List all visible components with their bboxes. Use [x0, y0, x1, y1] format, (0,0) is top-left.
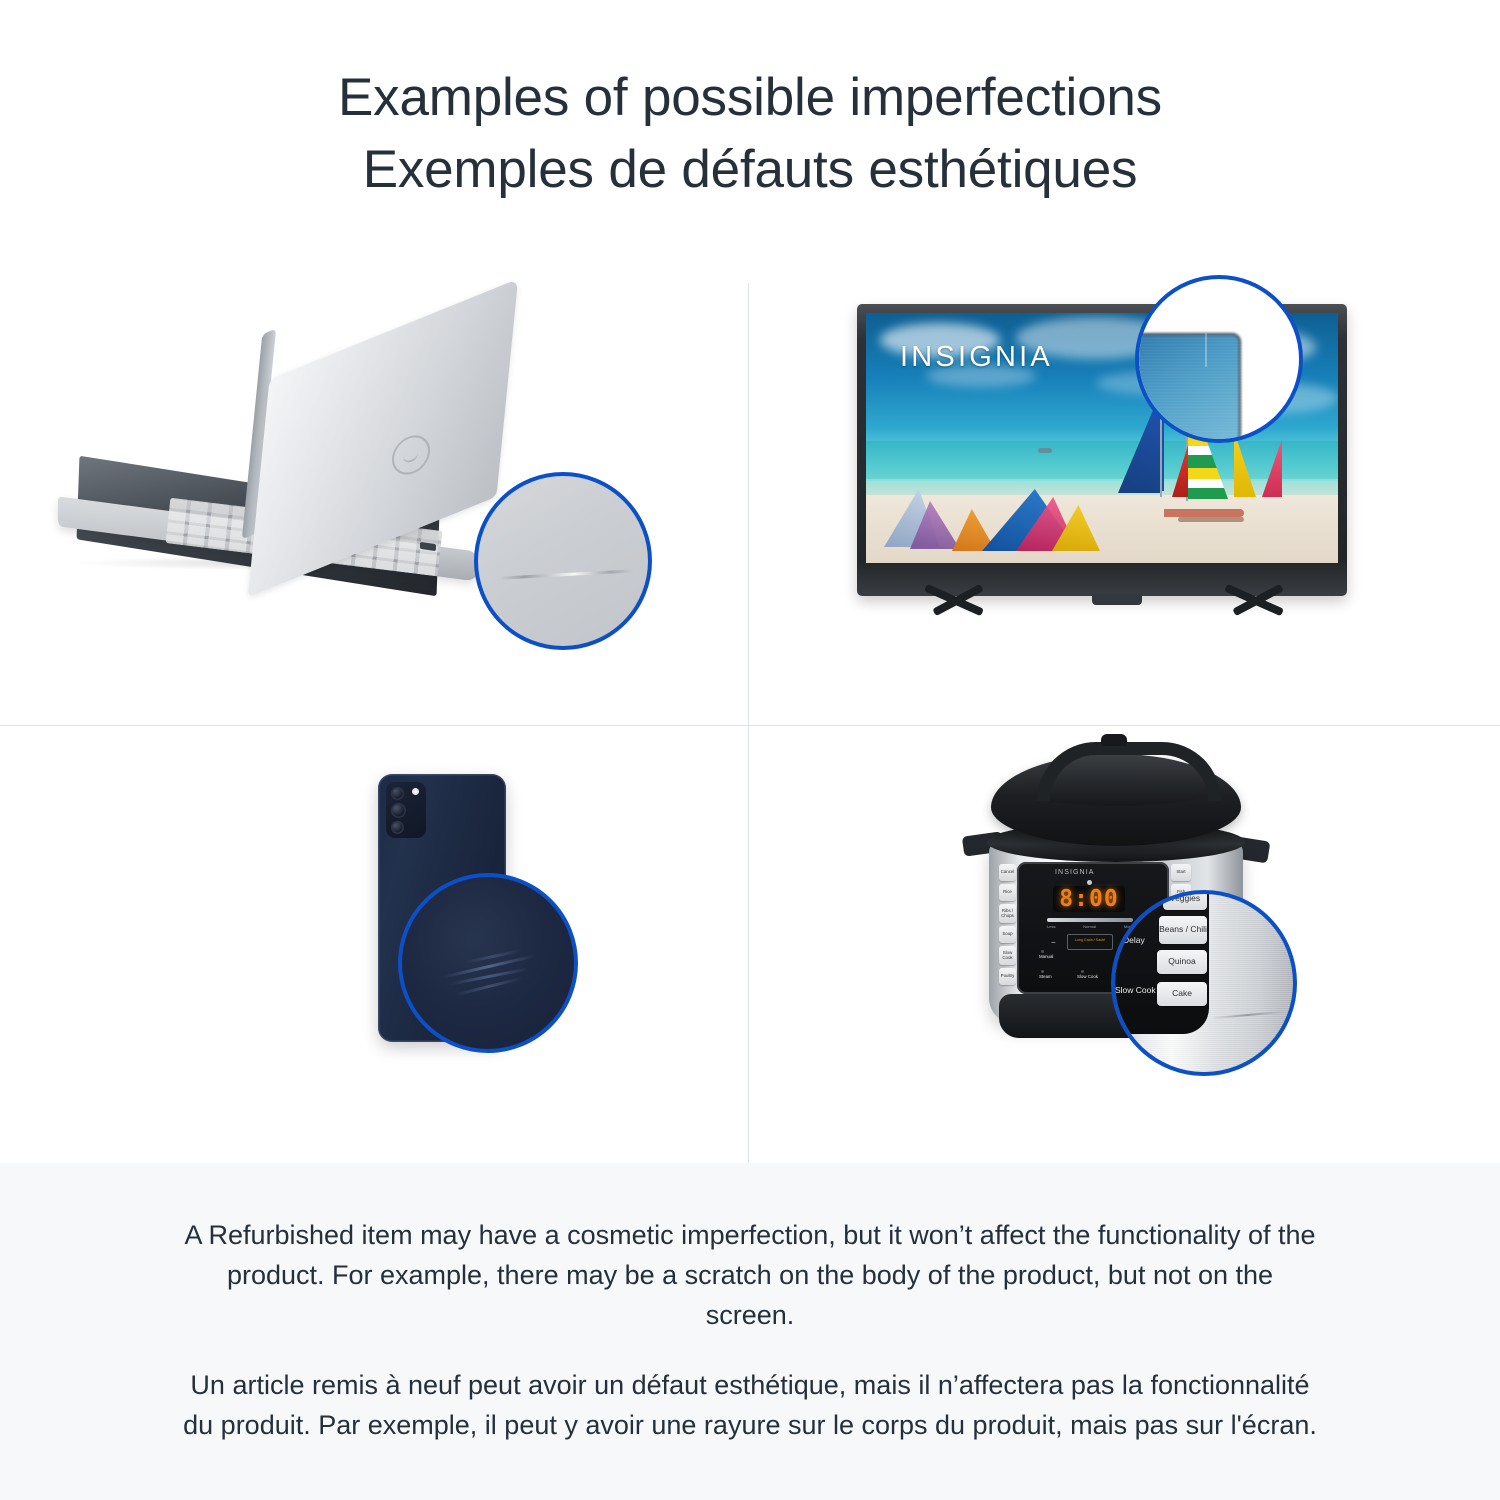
cooker-mode-window: Long Grain / Sauté: [1067, 934, 1113, 950]
cooker-button-manual[interactable]: Manual: [1039, 954, 1053, 959]
scratch-mark: [500, 569, 634, 579]
button-dot-icon: [1041, 950, 1044, 953]
cooker-steam-valve-icon: [1101, 734, 1127, 746]
cooker-mode-value: Long Grain / Sauté: [1068, 938, 1112, 942]
cooker-button-cancel[interactable]: Cancel: [999, 864, 1016, 881]
camera-lens-icon: [391, 803, 406, 818]
button-dot-icon: [1081, 970, 1084, 973]
cooker-button-slow-cook-side[interactable]: Slow Cook: [999, 946, 1016, 965]
refurbished-imperfections-infographic: Examples of possible imperfections Exemp…: [0, 0, 1500, 1500]
cooker-button-start[interactable]: Start: [1171, 864, 1191, 881]
magnifier-circle-smartphone: [398, 873, 578, 1053]
magnified-button-beans-chili: Beans / Chili: [1159, 916, 1207, 944]
laptop-illustration: [0, 256, 748, 725]
television-ir-tab: [1092, 594, 1142, 605]
example-cell-laptop: Scratch on laptop lid: [0, 256, 748, 725]
cooker-button-poultry[interactable]: Poultry: [999, 968, 1016, 985]
smartphone-illustration: [0, 726, 748, 1163]
cooker-brand-label: INSIGNIA: [1055, 869, 1095, 876]
camera-flash-icon: [412, 788, 419, 795]
page-header: Examples of possible imperfections Exemp…: [0, 0, 1500, 256]
ocean-band: [866, 441, 1338, 481]
example-cell-smartphone: Scratches on phone back: [0, 726, 748, 1163]
cooker-button-ribs-chops[interactable]: Ribs / Chops: [999, 904, 1016, 923]
cooker-display-value: 8:00: [1059, 888, 1118, 911]
magnified-button-delay: Delay: [1123, 936, 1145, 945]
example-cell-pressure-cooker: INSIGNIA 8:00 Less Normal More Long Grai…: [749, 726, 1500, 1163]
page-footer: A Refurbished item may have a cosmetic i…: [0, 1163, 1500, 1500]
page-title-fr: Exemples de défauts esthétiques: [363, 134, 1138, 206]
magnified-button-quinoa: Quinoa: [1157, 950, 1207, 974]
magnifier-circle-laptop: [474, 472, 652, 650]
footer-paragraph-en: A Refurbished item may have a cosmetic i…: [180, 1215, 1320, 1335]
cooker-button-soup[interactable]: Soup: [999, 926, 1016, 943]
camera-lens-icon: [391, 821, 404, 834]
bezel-seam: [1205, 333, 1207, 367]
television-bezel-zoom: [1135, 305, 1303, 435]
level-label-less: Less: [1047, 924, 1055, 929]
television-illustration: INSIGNIA: [749, 256, 1500, 725]
power-indicator-icon: [1087, 880, 1092, 885]
magnifier-circle-television: [1135, 275, 1303, 443]
cooker-button-steam[interactable]: Steam: [1039, 974, 1052, 979]
example-cell-television: INSIGNIA Scuff on television bezel cor: [749, 256, 1500, 725]
beached-hull: [1164, 509, 1244, 517]
cooker-button-rice[interactable]: Rice: [999, 884, 1016, 901]
camera-lens-icon: [391, 787, 404, 800]
distant-boat: [1038, 448, 1052, 453]
cooker-button-slow-cook[interactable]: Slow Cook: [1077, 974, 1098, 979]
minus-icon: −: [1051, 938, 1056, 947]
pressure-cooker-illustration: INSIGNIA 8:00 Less Normal More Long Grai…: [749, 726, 1500, 1163]
scratch-mark: [448, 967, 529, 986]
camera-module: [386, 782, 426, 838]
beached-hull-shadow: [1178, 517, 1244, 522]
magnified-button-slow-cook: Slow Cook: [1115, 986, 1156, 995]
cooker-handle: [1037, 742, 1221, 801]
cooker-button-column-left: Cancel Rice Ribs / Chops Soup Slow Cook …: [999, 864, 1016, 985]
television-brand-logo: INSIGNIA: [900, 341, 1053, 374]
magnified-button-cake: Cake: [1157, 982, 1207, 1006]
footer-paragraph-fr: Un article remis à neuf peut avoir un dé…: [180, 1365, 1320, 1445]
magnifier-circle-pressure-cooker: Delay Slow Cook Veggies Beans / Chili Qu…: [1111, 890, 1297, 1076]
button-dot-icon: [1041, 970, 1044, 973]
examples-grid: Scratch on laptop lid: [0, 256, 1500, 1163]
level-label-normal: Normal: [1083, 924, 1096, 929]
page-title-en: Examples of possible imperfections: [338, 62, 1162, 134]
